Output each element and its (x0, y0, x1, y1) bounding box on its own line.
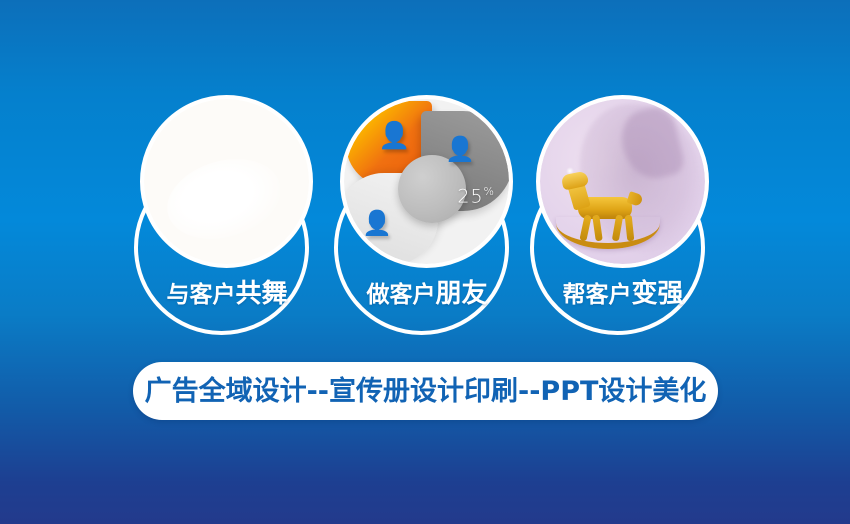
services-banner-text: 广告全域设计--宣传册设计印刷--PPT设计美化 (145, 378, 707, 405)
feature-card-friend-of-client[interactable]: 👤 👤 👤 25% 做客户朋友 (327, 85, 527, 335)
image-disc-1: 👤 👤 👤 25% (340, 95, 513, 268)
feature-card-dance-with-client[interactable]: 与客户共舞 (127, 85, 327, 335)
pie-infographic-art: 👤 👤 👤 25% (344, 99, 509, 264)
person-standing-icon: 👤 (445, 137, 475, 161)
feature-card-row: 与客户共舞 👤 👤 👤 25% (0, 0, 850, 350)
label-emphasis-0: 共舞 (235, 279, 287, 309)
rocking-horse-art (540, 99, 705, 264)
orange-smoke-art (144, 99, 309, 264)
label-lead-0: 与客户 (166, 282, 235, 308)
label-lead-2: 帮客户 (562, 282, 631, 308)
rocking-horse-icon (556, 177, 662, 251)
feature-card-label-2: 帮客户变强 (523, 281, 723, 307)
feature-card-make-client-stronger[interactable]: 帮客户变强 (523, 85, 723, 335)
horse-rocker (556, 217, 660, 249)
person-at-desk-icon: 👤 (362, 211, 392, 235)
pie-center-circle (398, 155, 466, 223)
label-emphasis-2: 变强 (631, 279, 683, 309)
feature-card-label-0: 与客户共舞 (127, 281, 327, 307)
services-banner[interactable]: 广告全域设计--宣传册设计印刷--PPT设计美化 (133, 362, 718, 420)
label-lead-1: 做客户 (366, 282, 435, 308)
pie-percentage-unit: % (484, 185, 495, 198)
image-disc-2 (536, 95, 709, 268)
pie-percentage-value: 25 (457, 185, 483, 207)
person-presenting-icon: 👤 (378, 123, 410, 149)
pie-percentage-label: 25% (457, 185, 495, 207)
feature-card-label-1: 做客户朋友 (327, 281, 527, 307)
label-emphasis-1: 朋友 (435, 279, 487, 309)
poster-canvas: 与客户共舞 👤 👤 👤 25% (0, 0, 850, 524)
image-disc-0 (140, 95, 313, 268)
